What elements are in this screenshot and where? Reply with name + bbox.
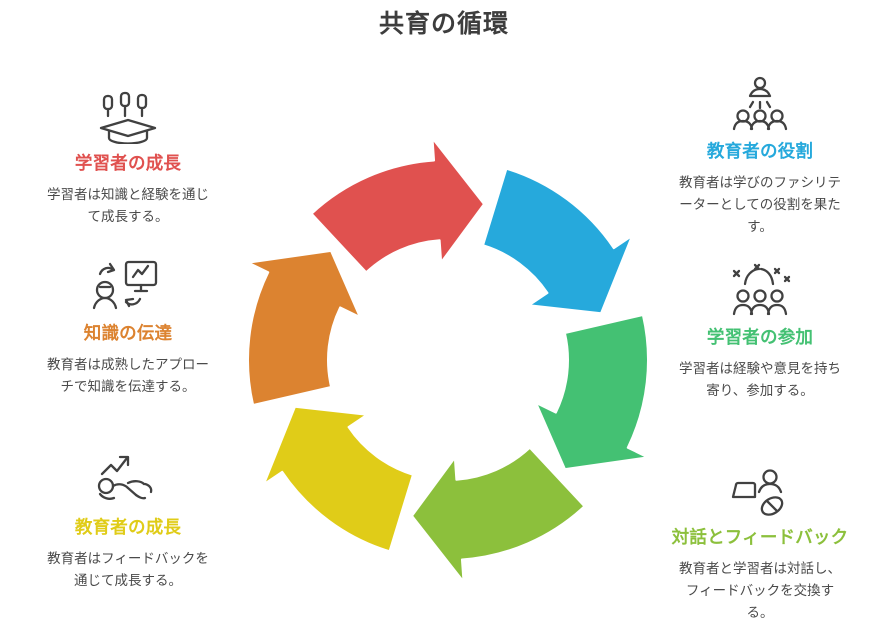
item-title: 教育者の成長 [28,516,228,539]
celebrating-group-icon [660,262,860,318]
cycle-item-educator-growth[interactable]: 教育者の成長 教育者はフィードバックを通じて成長する。 [28,452,228,592]
cycle-segment-red[interactable] [312,139,484,273]
cycle-svg [228,128,668,590]
item-title: 対話とフィードバック [660,526,860,549]
item-title: 知識の伝達 [28,322,228,345]
item-title: 学習者の成長 [28,152,228,175]
six-arrow-cycle-diagram [228,128,668,590]
cycle-segment-orange[interactable] [248,251,360,405]
cycle-segment-yellow-green[interactable] [412,448,584,582]
cycle-item-knowledge-transfer[interactable]: 知識の伝達 教育者は成熟したアプローチで知識を伝達する。 [28,258,228,398]
running-person-growth-icon [28,452,228,508]
cycle-item-dialogue-feedback[interactable]: 対話とフィードバック 教育者と学習者は対話し、フィードバックを交換する。 [660,462,860,624]
presenter-audience-icon [660,76,860,132]
cycle-item-learner-growth[interactable]: 学習者の成長 学習者は知識と経験を通じて成長する。 [28,88,228,228]
item-description: 教育者はフィードバックを通じて成長する。 [28,548,228,592]
item-title: 教育者の役割 [660,140,860,163]
cycle-segment-yellow[interactable] [264,407,413,551]
item-description: 教育者と学習者は対話し、フィードバックを交換する。 [660,558,860,624]
item-description: 学習者は知識と経験を通じて成長する。 [28,184,228,228]
item-title: 学習者の参加 [660,326,860,349]
cycle-item-learner-participation[interactable]: 学習者の参加 学習者は経験や意見を持ち寄り、参加する。 [660,262,860,402]
presentation-person-icon [28,258,228,314]
graduation-cap-icon [28,88,228,144]
item-description: 学習者は経験や意見を持ち寄り、参加する。 [660,358,860,402]
cycle-segment-blue[interactable] [483,169,632,313]
cycle-item-educator-role[interactable]: 教育者の役割 教育者は学びのファシリテーターとしての役割を果たす。 [660,76,860,238]
item-description: 教育者は学びのファシリテーターとしての役割を果たす。 [660,172,860,238]
item-description: 教育者は成熟したアプローチで知識を伝達する。 [28,354,228,398]
cycle-segment-green[interactable] [536,315,648,469]
laptop-discussion-icon [660,462,860,518]
page-title: 共育の循環 [0,0,888,40]
